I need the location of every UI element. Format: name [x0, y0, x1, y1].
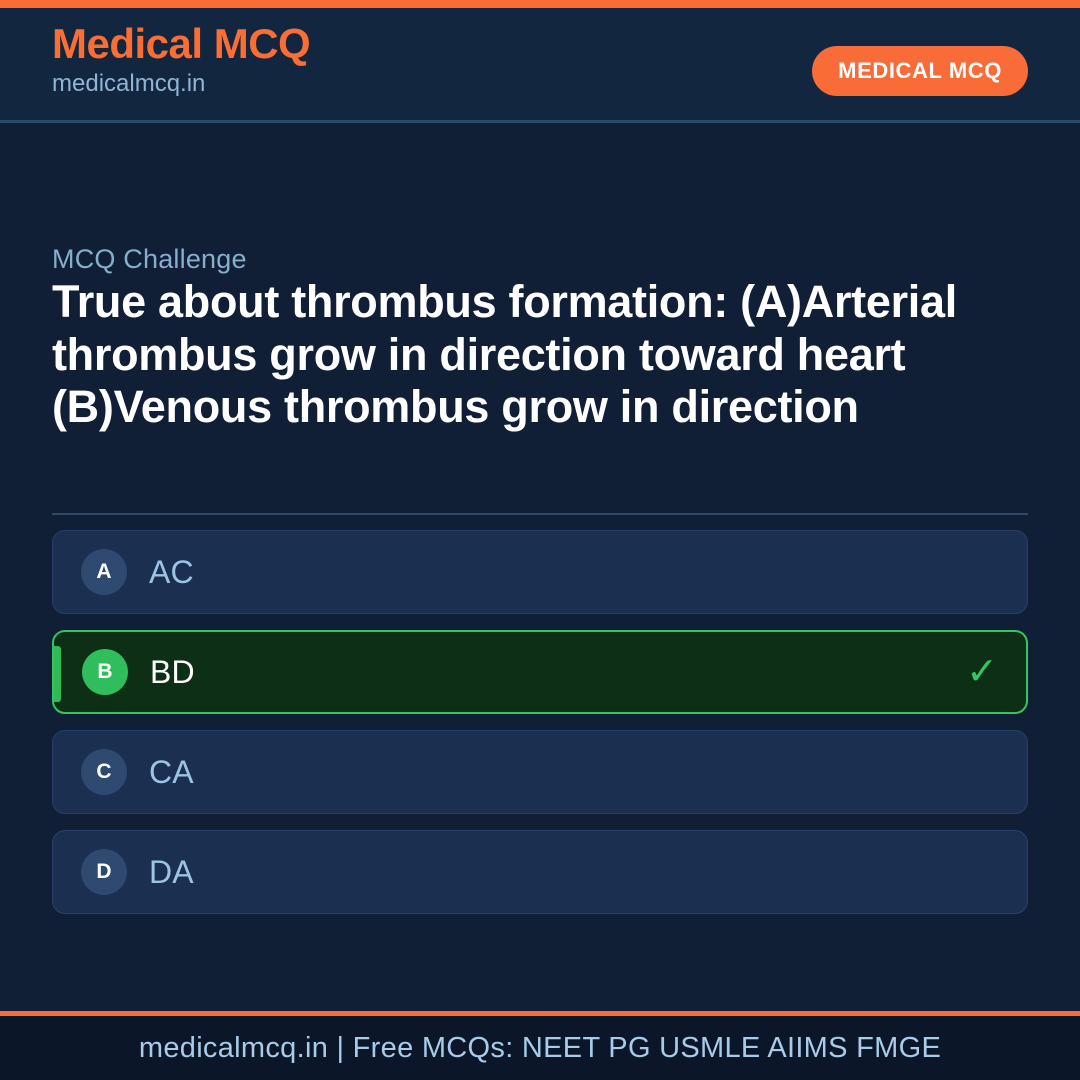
top-accent-bar [0, 0, 1080, 8]
main-content: MCQ Challenge True about thrombus format… [0, 126, 1080, 1011]
option-letter-badge-a: A [81, 549, 127, 595]
option-letter-badge-c: C [81, 749, 127, 795]
header-badge[interactable]: MEDICAL MCQ [812, 46, 1028, 96]
option-label-d: DA [149, 854, 194, 891]
footer-text: medicalmcq.in | Free MCQs: NEET PG USMLE… [139, 1032, 941, 1065]
option-label-b: BD [150, 654, 195, 691]
option-label-a: AC [149, 554, 194, 591]
option-letter-badge-b: B [82, 649, 128, 695]
question-divider [52, 513, 1028, 515]
check-icon: ✓ [966, 653, 998, 691]
option-label-c: CA [149, 754, 194, 791]
page-header: Medical MCQ medicalmcq.in MEDICAL MCQ [0, 8, 1080, 123]
question-text: True about thrombus formation: (A)Arteri… [52, 276, 1028, 434]
correct-accent-bar [54, 646, 61, 702]
option-row-d[interactable]: D DA [52, 830, 1028, 914]
option-row-a[interactable]: A AC [52, 530, 1028, 614]
brand-subtitle: medicalmcq.in [52, 70, 310, 99]
option-row-c[interactable]: C CA [52, 730, 1028, 814]
option-row-b[interactable]: B BD ✓ [52, 630, 1028, 714]
options-list: A AC B BD ✓ C CA D DA [52, 530, 1028, 930]
brand-block: Medical MCQ medicalmcq.in [52, 22, 310, 99]
brand-title: Medical MCQ [52, 22, 310, 66]
option-letter-badge-d: D [81, 849, 127, 895]
mcq-challenge-kicker: MCQ Challenge [52, 244, 247, 275]
page-footer: medicalmcq.in | Free MCQs: NEET PG USMLE… [0, 1011, 1080, 1080]
